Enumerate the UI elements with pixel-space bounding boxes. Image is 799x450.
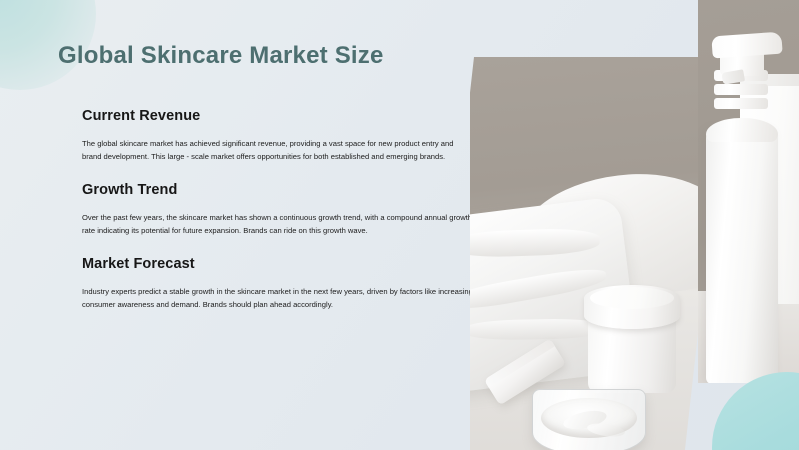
section-body: Industry experts predict a stable growth… <box>82 286 474 311</box>
section-current-revenue: Current Revenue The global skincare mark… <box>82 108 482 163</box>
section-heading: Current Revenue <box>82 108 482 124</box>
side-product-photo <box>698 0 799 383</box>
side-photo-scene <box>698 0 799 383</box>
section-growth-trend: Growth Trend Over the past few years, th… <box>82 182 482 237</box>
section-market-forecast: Market Forecast Industry experts predict… <box>82 256 482 311</box>
slide-canvas: Global Skincare Market Size Current Reve… <box>0 0 799 450</box>
towel-fold <box>470 227 600 258</box>
main-product-photo <box>470 57 729 450</box>
jar-glass <box>532 389 646 450</box>
page-title: Global Skincare Market Size <box>58 42 384 70</box>
jar-lid <box>584 285 680 329</box>
pump-bottle-shoulder <box>706 118 778 142</box>
open-cream-jar <box>532 375 644 450</box>
jar-lid-top <box>590 287 674 309</box>
section-heading: Market Forecast <box>82 256 482 272</box>
section-heading: Growth Trend <box>82 182 482 198</box>
section-body: The global skincare market has achieved … <box>82 138 474 163</box>
section-body: Over the past few years, the skincare ma… <box>82 212 474 237</box>
main-photo-scene <box>474 57 729 450</box>
pump-collar <box>714 84 768 95</box>
cream-surface <box>541 398 637 438</box>
pump-bottle-body <box>706 128 778 383</box>
pump-collar <box>714 98 768 109</box>
cream-swirl <box>586 421 625 438</box>
content-column: Current Revenue The global skincare mark… <box>82 108 482 312</box>
photo-stage <box>470 0 799 450</box>
